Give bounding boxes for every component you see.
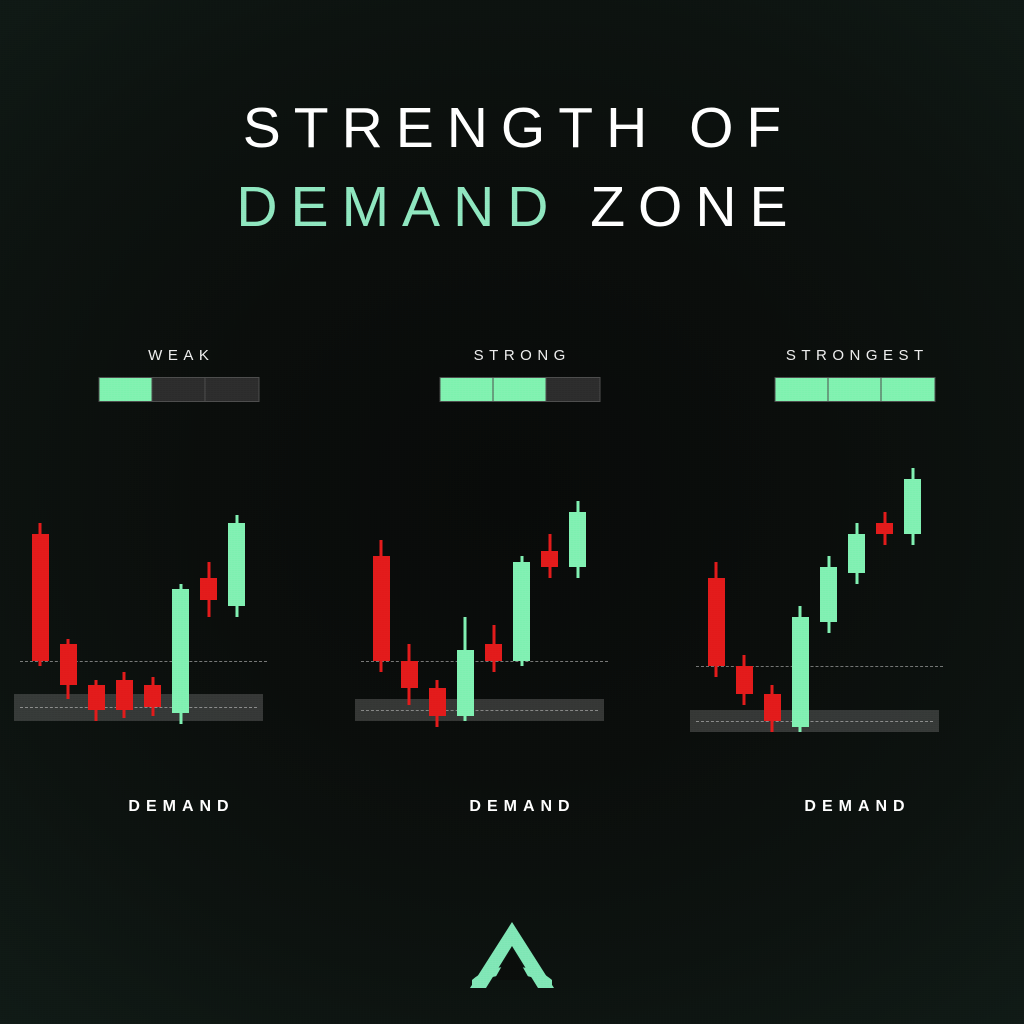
candlestick-bullish [792,440,809,780]
candlestick-bearish [764,440,781,780]
infographic-canvas: STRENGTH OF DEMAND ZONE WEAK DEMAND STRO… [0,0,1024,1024]
strength-meter-strong[interactable] [439,377,600,402]
candle-body [200,578,217,600]
candlestick-bearish [401,440,418,780]
candle-body [708,578,725,666]
candle-body [373,556,390,661]
candle-body [32,534,49,661]
demand-caption-strong: DEMAND [349,798,690,816]
candle-body [764,694,781,722]
strength-label-strong: STRONG [349,347,690,364]
candlestick-bullish [569,440,586,780]
strength-meter-strongest[interactable] [774,377,935,402]
candlestick-bearish [541,440,558,780]
candle-body [144,685,161,707]
demand-zone-midline [696,721,933,722]
candle-body [429,688,446,716]
strength-segment [99,378,152,401]
candle-body [569,512,586,567]
candle-body [457,650,474,716]
candlestick-bullish [228,440,245,780]
candlestick-bearish [116,440,133,780]
candlestick-bearish [60,440,77,780]
candle-body [88,685,105,710]
candle-body [820,567,837,622]
demand-zone-midline [20,707,257,708]
candle-body [792,617,809,727]
candlestick-chart-strong [349,440,690,780]
candle-body [513,562,530,661]
candlestick-bearish [144,440,161,780]
candle-body [60,644,77,685]
strength-meter-weak[interactable] [98,377,259,402]
demand-caption-strongest: DEMAND [684,798,1024,816]
candle-body [116,680,133,710]
panel-strong: STRONG DEMAND [349,0,690,1024]
arc-a-logo-icon [464,918,560,992]
strength-segment [493,378,546,401]
candlestick-bearish [429,440,446,780]
candlestick-bearish [200,440,217,780]
candlestick-bullish [172,440,189,780]
strength-segment [775,378,828,401]
candle-body [172,589,189,713]
strength-label-weak: WEAK [8,347,349,364]
strength-segment [546,378,599,401]
demand-zone-midline [361,710,598,711]
candlestick-bearish [88,440,105,780]
candle-body [848,534,865,573]
strength-segment [205,378,258,401]
candle-body [541,551,558,568]
candlestick-bullish [513,440,530,780]
candlestick-chart-strongest [684,440,1024,780]
candlestick-bullish [457,440,474,780]
candlestick-bearish [736,440,753,780]
candle-body [736,666,753,694]
candlestick-bullish [848,440,865,780]
candlestick-bearish [708,440,725,780]
candle-body [904,479,921,534]
strength-segment [881,378,934,401]
candlestick-bearish [373,440,390,780]
candlestick-bearish [876,440,893,780]
strength-segment [152,378,205,401]
candlestick-bullish [820,440,837,780]
candlestick-bearish [485,440,502,780]
strength-segment [440,378,493,401]
candlestick-bullish [904,440,921,780]
demand-caption-weak: DEMAND [8,798,349,816]
candle-body [401,661,418,689]
panel-strongest: STRONGEST DEMAND [684,0,1024,1024]
candle-body [228,523,245,606]
candlestick-chart-weak [8,440,349,780]
panel-weak: WEAK DEMAND [8,0,349,1024]
strength-label-strongest: STRONGEST [684,347,1024,364]
candle-body [876,523,893,534]
candlestick-bearish [32,440,49,780]
candle-body [485,644,502,661]
strength-segment [828,378,881,401]
